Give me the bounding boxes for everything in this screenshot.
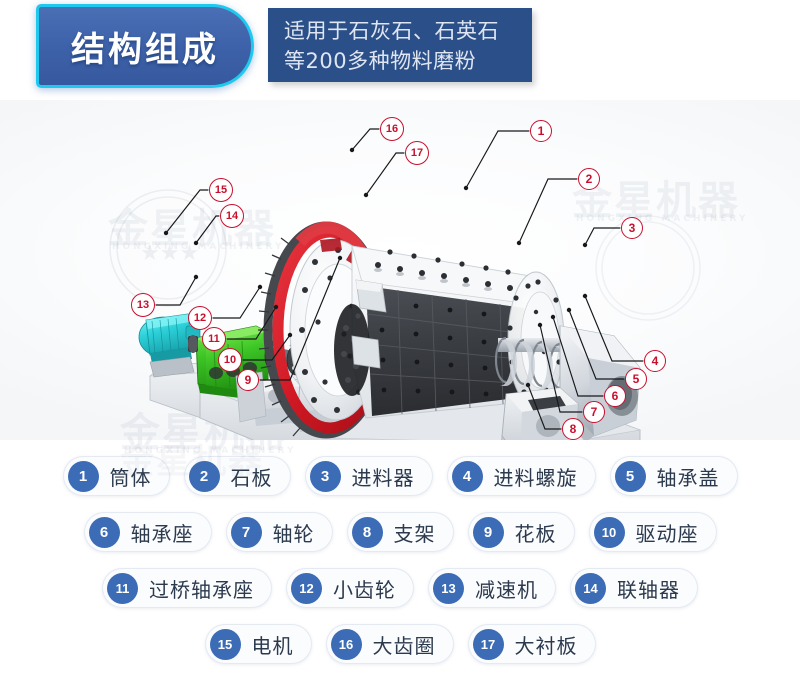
coupling-part xyxy=(188,335,198,353)
legend-number-badge: 12 xyxy=(291,573,322,604)
leader-line-1 xyxy=(466,131,529,188)
leader-dot-17 xyxy=(364,193,368,197)
legend-label: 电机 xyxy=(252,630,294,659)
callout-14[interactable]: 14 xyxy=(220,204,244,228)
leader-dot-9 xyxy=(338,256,342,260)
leader-dot-12 xyxy=(258,285,262,289)
legend-item-10[interactable]: 10驱动座 xyxy=(589,512,717,552)
legend-label: 大齿圈 xyxy=(373,630,436,659)
leader-dot-14 xyxy=(194,241,198,245)
leader-dot-8 xyxy=(526,383,530,387)
legend-label: 轴承座 xyxy=(131,518,194,547)
page-root: 适用于石灰石、石英石 等200多种物料磨粉 结构组成 金星机器 HONGXING… xyxy=(0,0,800,686)
legend-number-badge: 7 xyxy=(231,517,262,548)
legend-label: 减速机 xyxy=(475,574,538,603)
legend-item-5[interactable]: 5轴承盖 xyxy=(610,456,738,496)
watermark-seal-icon-2 xyxy=(596,216,700,320)
legend-number-badge: 4 xyxy=(452,461,483,492)
legend-number-badge: 8 xyxy=(352,517,383,548)
parts-legend: 金星机器 1筒体2石板3进料器4进料螺旋5轴承盖6轴承座7轴轮8支架9花板10驱… xyxy=(0,440,800,686)
leader-line-13 xyxy=(156,277,196,305)
callout-12[interactable]: 12 xyxy=(188,306,212,330)
header-subtitle-line1: 适用于石灰石、石英石 xyxy=(284,16,524,46)
legend-number-badge: 10 xyxy=(594,517,625,548)
callout-2[interactable]: 2 xyxy=(578,168,600,190)
legend-number-badge: 6 xyxy=(89,517,120,548)
legend-row-2: 6轴承座7轴轮8支架9花板10驱动座 xyxy=(0,504,800,560)
legend-label: 轴承盖 xyxy=(657,462,720,491)
leader-dot-2 xyxy=(517,241,521,245)
legend-number-badge: 16 xyxy=(331,629,362,660)
leader-dot-16 xyxy=(350,148,354,152)
leader-line-2 xyxy=(519,179,577,243)
diagram-canvas: ★★★ xyxy=(0,100,800,440)
legend-item-17[interactable]: 17大衬板 xyxy=(468,624,596,664)
legend-label: 小齿轮 xyxy=(333,574,396,603)
legend-item-1[interactable]: 1筒体 xyxy=(63,456,170,496)
legend-label: 支架 xyxy=(394,518,436,547)
callout-11[interactable]: 11 xyxy=(202,327,226,351)
svg-text:★★★: ★★★ xyxy=(140,241,199,266)
legend-rows: 1筒体2石板3进料器4进料螺旋5轴承盖6轴承座7轴轮8支架9花板10驱动座11过… xyxy=(0,448,800,672)
legend-item-2[interactable]: 2石板 xyxy=(184,456,291,496)
leader-dot-3 xyxy=(583,243,587,247)
callout-7[interactable]: 7 xyxy=(583,401,605,423)
watermark-seal-icon: ★★★ xyxy=(110,190,226,306)
legend-item-7[interactable]: 7轴轮 xyxy=(226,512,333,552)
leader-line-12 xyxy=(213,287,260,318)
header-subtitle-line2: 等200多种物料磨粉 xyxy=(284,46,524,76)
callout-13[interactable]: 13 xyxy=(131,293,155,317)
legend-label: 驱动座 xyxy=(636,518,699,547)
legend-item-13[interactable]: 13减速机 xyxy=(428,568,556,608)
legend-item-12[interactable]: 12小齿轮 xyxy=(286,568,414,608)
header-subtitle-text: 适用于石灰石、石英石 等200多种物料磨粉 xyxy=(284,16,524,76)
callout-3[interactable]: 3 xyxy=(621,217,643,239)
legend-label: 轴轮 xyxy=(273,518,315,547)
legend-item-15[interactable]: 15电机 xyxy=(205,624,312,664)
legend-number-badge: 3 xyxy=(310,461,341,492)
ball-mill-diagram: 金星机器 HONGXING MACHINERY 金星机器 HONGXING MA… xyxy=(0,100,800,440)
legend-number-badge: 11 xyxy=(107,573,138,604)
legend-number-badge: 14 xyxy=(575,573,606,604)
callout-10[interactable]: 10 xyxy=(218,348,242,372)
leader-dot-13 xyxy=(194,275,198,279)
legend-item-16[interactable]: 16大齿圈 xyxy=(326,624,454,664)
legend-label: 大衬板 xyxy=(515,630,578,659)
legend-row-3: 11过桥轴承座12小齿轮13减速机14联轴器 xyxy=(0,560,800,616)
callout-6[interactable]: 6 xyxy=(604,385,626,407)
callout-8[interactable]: 8 xyxy=(562,418,584,440)
legend-label: 过桥轴承座 xyxy=(149,574,254,603)
legend-item-3[interactable]: 3进料器 xyxy=(305,456,433,496)
legend-item-6[interactable]: 6轴承座 xyxy=(84,512,212,552)
callout-5[interactable]: 5 xyxy=(625,368,647,390)
legend-number-badge: 15 xyxy=(210,629,241,660)
leader-dot-5 xyxy=(567,308,571,312)
legend-row-1: 1筒体2石板3进料器4进料螺旋5轴承盖 xyxy=(0,448,800,504)
header-title-badge: 结构组成 xyxy=(36,4,254,88)
legend-item-9[interactable]: 9花板 xyxy=(468,512,575,552)
leader-dot-4 xyxy=(583,294,587,298)
header-subtitle-panel: 适用于石灰石、石英石 等200多种物料磨粉 xyxy=(268,8,532,82)
legend-row-4: 15电机16大齿圈17大衬板 xyxy=(0,616,800,672)
legend-item-11[interactable]: 11过桥轴承座 xyxy=(102,568,272,608)
legend-number-badge: 2 xyxy=(189,461,220,492)
callout-17[interactable]: 17 xyxy=(405,141,429,165)
callout-16[interactable]: 16 xyxy=(380,117,404,141)
legend-number-badge: 1 xyxy=(68,461,99,492)
leader-line-17 xyxy=(366,153,404,195)
leader-dot-10 xyxy=(288,333,292,337)
legend-label: 石板 xyxy=(231,462,273,491)
legend-label: 联轴器 xyxy=(617,574,680,603)
legend-label: 筒体 xyxy=(110,462,152,491)
callout-4[interactable]: 4 xyxy=(644,350,666,372)
callout-15[interactable]: 15 xyxy=(209,178,233,202)
leader-dot-1 xyxy=(464,186,468,190)
callout-9[interactable]: 9 xyxy=(237,369,259,391)
legend-number-badge: 9 xyxy=(473,517,504,548)
legend-item-14[interactable]: 14联轴器 xyxy=(570,568,698,608)
callout-1[interactable]: 1 xyxy=(530,120,552,142)
leader-line-16 xyxy=(352,129,379,150)
leader-dot-6 xyxy=(551,315,555,319)
legend-number-badge: 13 xyxy=(433,573,464,604)
legend-number-badge: 5 xyxy=(615,461,646,492)
legend-label: 进料螺旋 xyxy=(494,462,578,491)
leader-dot-7 xyxy=(538,323,542,327)
leader-dot-15 xyxy=(164,231,168,235)
legend-label: 花板 xyxy=(515,518,557,547)
legend-item-8[interactable]: 8支架 xyxy=(347,512,454,552)
page-title: 结构组成 xyxy=(39,7,251,85)
legend-label: 进料器 xyxy=(352,462,415,491)
page-header: 适用于石灰石、石英石 等200多种物料磨粉 结构组成 xyxy=(0,0,800,100)
leader-dot-11 xyxy=(274,305,278,309)
legend-number-badge: 17 xyxy=(473,629,504,660)
legend-item-4[interactable]: 4进料螺旋 xyxy=(447,456,596,496)
